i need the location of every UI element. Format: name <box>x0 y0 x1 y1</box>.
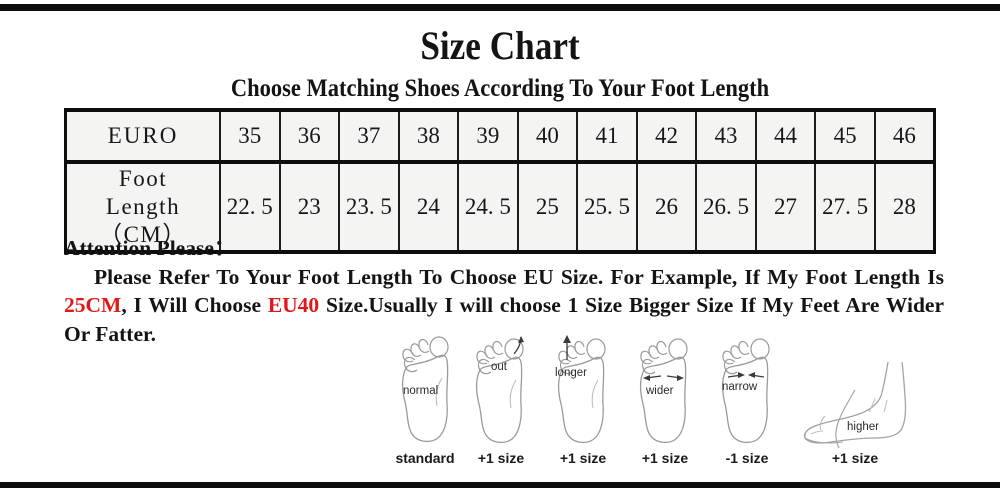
row-header-line-1: Foot <box>119 166 167 191</box>
foot-caption-higher: +1 size <box>815 450 895 466</box>
cell-euro-10: 45 <box>815 110 875 162</box>
cell-euro-6: 41 <box>577 110 637 162</box>
foot-caption-standard: standard <box>385 450 465 466</box>
foot-inner-label-longer: longer <box>555 367 587 379</box>
foot-inner-label-normal: normal <box>403 385 438 397</box>
cell-euro-7: 42 <box>637 110 697 162</box>
foot-caption-wider: +1 size <box>625 450 705 466</box>
foot-diagram-normal: normal standard <box>393 332 455 450</box>
cell-euro-8: 43 <box>696 110 756 162</box>
foot-inner-label-out: out <box>491 361 508 373</box>
attention-text-part-1: Please Refer To Your Foot Length To Choo… <box>94 265 944 289</box>
size-chart-page: Size Chart Choose Matching Shoes Accordi… <box>0 0 1000 500</box>
foot-caption-out: +1 size <box>461 450 541 466</box>
size-table: EURO 35 36 37 38 39 40 41 42 43 44 45 46… <box>64 108 936 254</box>
cell-euro-4: 39 <box>458 110 518 162</box>
foot-diagram-out: out +1 size <box>469 332 531 450</box>
attention-text-part-2: , I Will Choose <box>121 293 267 317</box>
cell-euro-9: 44 <box>756 110 816 162</box>
foot-caption-longer: +1 size <box>543 450 623 466</box>
foot-inner-label-narrow: narrow <box>722 381 758 393</box>
cell-euro-1: 36 <box>280 110 340 162</box>
cell-euro-2: 37 <box>339 110 399 162</box>
foot-diagram-group: normal standard out +1 size <box>385 332 855 482</box>
foot-profile-higher-icon: higher <box>795 360 915 452</box>
foot-outline-normal-icon: normal <box>393 332 455 450</box>
highlight-foot-length: 25CM <box>64 293 121 317</box>
foot-diagram-longer: longer +1 size <box>551 332 613 450</box>
highlight-eu-size: EU40 <box>268 293 319 317</box>
top-divider-bar <box>0 4 1000 11</box>
row-header-euro: EURO <box>66 110 221 162</box>
page-subtitle: Choose Matching Shoes According To Your … <box>50 75 950 103</box>
foot-diagram-higher: higher +1 size <box>795 360 915 452</box>
foot-inner-label-higher: higher <box>847 421 879 433</box>
foot-outline-out-icon: out <box>469 332 531 450</box>
bottom-divider-bar <box>0 482 1000 488</box>
foot-diagram-wider: wider +1 size <box>633 332 695 450</box>
table-row-euro: EURO 35 36 37 38 39 40 41 42 43 44 45 46 <box>66 110 935 162</box>
foot-diagram-narrow: narrow -1 size <box>715 332 777 450</box>
cell-euro-5: 40 <box>518 110 578 162</box>
foot-outline-narrow-icon: narrow <box>715 332 777 450</box>
foot-inner-label-wider: wider <box>645 385 674 397</box>
attention-heading: Attention Please： <box>64 234 944 263</box>
cell-euro-11: 46 <box>875 110 935 162</box>
cell-euro-3: 38 <box>399 110 459 162</box>
cell-euro-0: 35 <box>220 110 280 162</box>
foot-outline-longer-icon: longer <box>551 332 613 450</box>
foot-caption-narrow: -1 size <box>707 450 787 466</box>
foot-outline-wider-icon: wider <box>633 332 695 450</box>
page-title: Size Chart <box>60 22 940 69</box>
